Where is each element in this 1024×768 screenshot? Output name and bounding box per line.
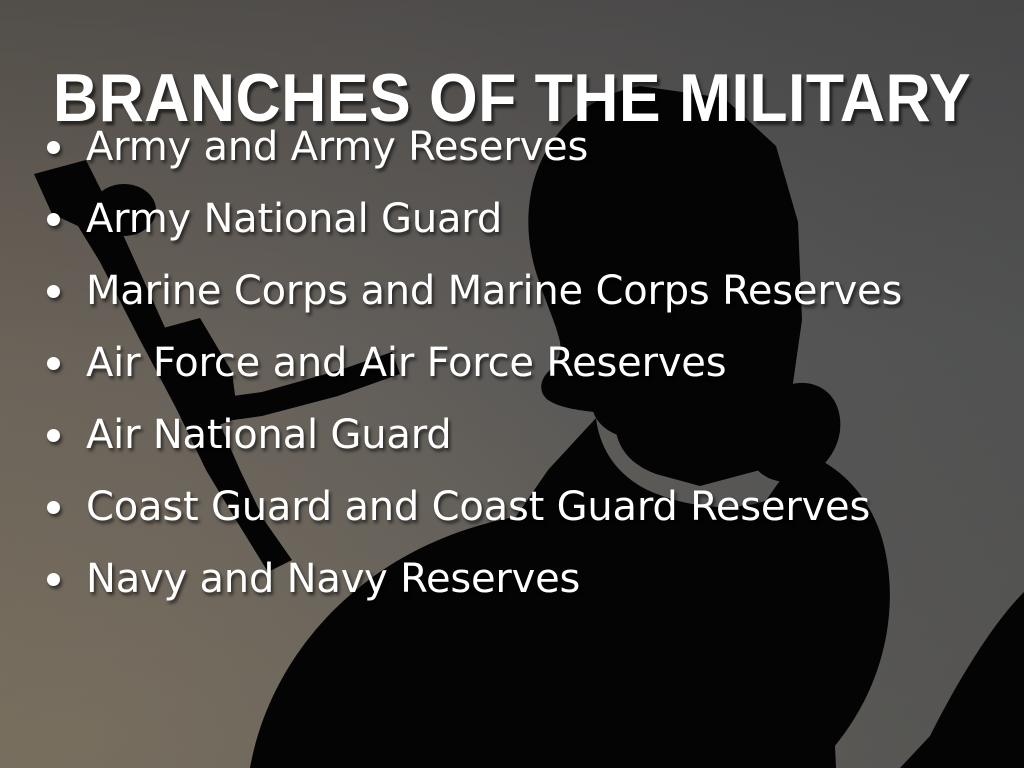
list-item: Army and Army Reserves — [34, 116, 1014, 178]
list-item: Marine Corps and Marine Corps Reserves — [34, 260, 1014, 322]
list-item-label: Navy and Navy Reserves — [86, 548, 1014, 610]
list-item: Air National Guard — [34, 404, 1014, 466]
list-item: Air Force and Air Force Reserves — [34, 332, 1014, 394]
bullet-dot-icon — [47, 357, 60, 370]
bullet-dot-icon — [47, 285, 60, 298]
list-item-label: Army and Army Reserves — [86, 116, 1014, 178]
bullet-dot-icon — [47, 213, 60, 226]
slide-canvas: BRANCHES OF THE MILITARY Army and Army R… — [0, 0, 1024, 768]
list-item: Army National Guard — [34, 188, 1014, 250]
list-item-label: Army National Guard — [86, 188, 1014, 250]
bullet-dot-icon — [47, 429, 60, 442]
list-item-label: Coast Guard and Coast Guard Reserves — [86, 476, 1014, 538]
branches-list: Army and Army Reserves Army National Gua… — [34, 116, 1014, 620]
list-item-label: Air National Guard — [86, 404, 1014, 466]
list-item-label: Marine Corps and Marine Corps Reserves — [86, 260, 1014, 322]
list-item: Navy and Navy Reserves — [34, 548, 1014, 610]
bullet-dot-icon — [47, 501, 60, 514]
list-item-label: Air Force and Air Force Reserves — [86, 332, 1014, 394]
bullet-dot-icon — [47, 573, 60, 586]
list-item: Coast Guard and Coast Guard Reserves — [34, 476, 1014, 538]
bullet-dot-icon — [47, 141, 60, 154]
